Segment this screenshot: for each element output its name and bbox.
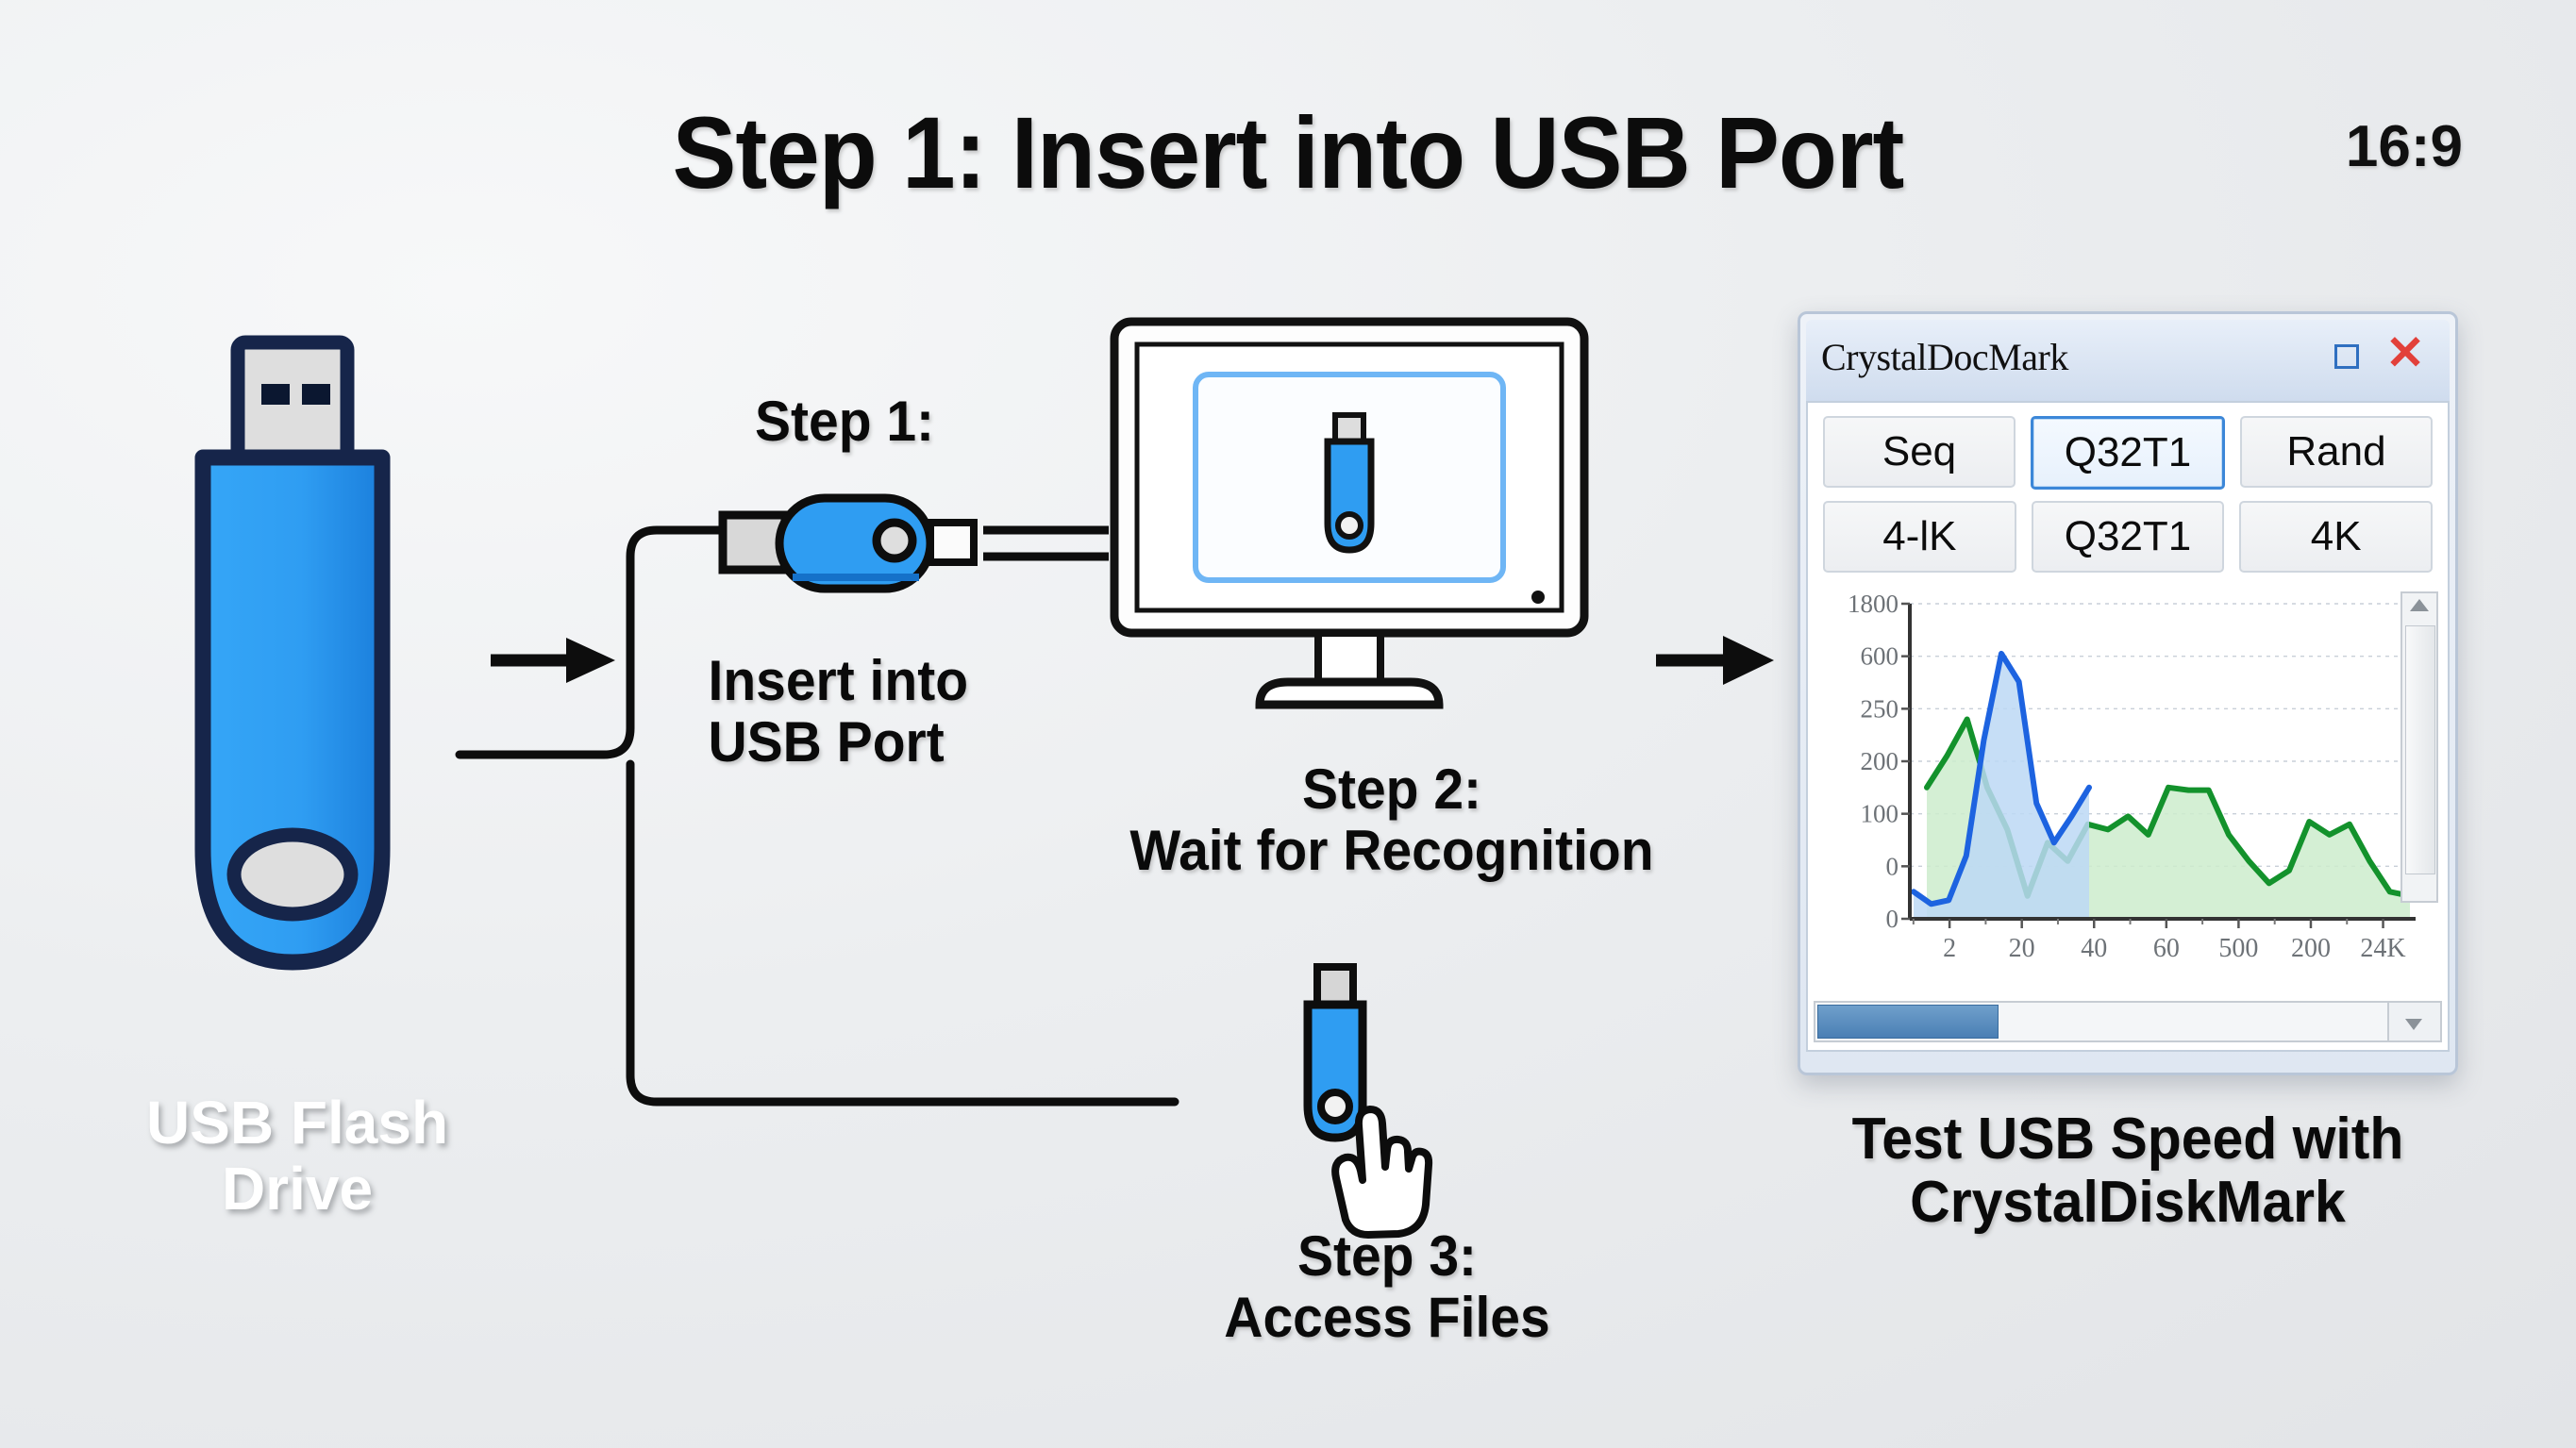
horizontal-scroll-thumb[interactable]: [1817, 1005, 1999, 1039]
poster-canvas: Step 1: Insert into USB Port 16:9: [0, 0, 2576, 1448]
window-content: Seq Q32T1 Rand 4-lK Q32T1 4K 18006002502…: [1806, 401, 2450, 1052]
svg-text:100: 100: [1861, 800, 1899, 828]
step-2-body: Wait for Recognition: [1043, 821, 1742, 882]
maximize-icon[interactable]: [2334, 344, 2359, 369]
svg-text:500: 500: [2218, 934, 2258, 963]
button-seq[interactable]: Seq: [1823, 416, 2016, 488]
chart-y-tick-labels: 180060025020010000: [1848, 590, 1910, 933]
arrow-right-icon-1: [491, 638, 615, 683]
window-title-bar[interactable]: CrystalDocMark ✕: [1806, 320, 2450, 401]
svg-text:24K: 24K: [2360, 934, 2405, 963]
scroll-up-arrow-icon[interactable]: [2410, 599, 2429, 611]
page-title: Step 1: Insert into USB Port: [77, 102, 2499, 204]
svg-text:0: 0: [1886, 905, 1899, 933]
svg-text:200: 200: [2291, 934, 2331, 963]
benchmark-caption-line-1: Test USB Speed with: [1810, 1108, 2447, 1172]
svg-text:600: 600: [1861, 642, 1899, 671]
button-q32t1-bottom[interactable]: Q32T1: [2032, 501, 2225, 573]
arrow-right-icon-2: [1656, 636, 1774, 685]
benchmark-caption: Test USB Speed with CrystalDiskMark: [1810, 1108, 2447, 1235]
close-icon[interactable]: ✕: [2385, 329, 2425, 376]
benchmark-caption-line-2: CrystalDiskMark: [1810, 1172, 2447, 1235]
svg-text:60: 60: [2153, 934, 2180, 963]
step-3-heading: Step 3:: [1110, 1226, 1665, 1288]
horizontal-scrollbar[interactable]: [1814, 1001, 2442, 1042]
button-4k[interactable]: 4K: [2239, 501, 2433, 573]
step-1-body: Insert into USB Port: [709, 651, 1085, 774]
svg-text:40: 40: [2081, 934, 2107, 963]
vertical-scrollbar[interactable]: [2400, 591, 2438, 903]
button-rand[interactable]: Rand: [2240, 416, 2433, 488]
usb-drive-horizontal-icon: [717, 491, 981, 594]
chart-series: [1914, 654, 2410, 919]
monitor-illustration: [1109, 316, 1590, 712]
button-4-1k[interactable]: 4-lK: [1823, 501, 2016, 573]
button-row-2: 4-lK Q32T1 4K: [1823, 501, 2433, 573]
step-1-body-line-2: USB Port: [709, 712, 1085, 774]
svg-text:0: 0: [1886, 852, 1899, 880]
step-3-body: Access Files: [1110, 1288, 1665, 1349]
hand-pointer-cursor-icon: [1321, 1099, 1434, 1240]
step-2-heading: Step 2:: [1043, 759, 1742, 821]
step-1-heading: Step 1:: [755, 391, 934, 453]
step-1-body-line-1: Insert into: [709, 651, 1085, 712]
aspect-ratio-badge: 16:9: [2346, 113, 2463, 180]
benchmark-chart: 180060025020010000 220406050020024K: [1823, 587, 2436, 992]
usb-flash-drive-illustration: [160, 335, 425, 995]
step-2-caption: Step 2: Wait for Recognition: [1043, 759, 1742, 882]
usb-caption-line-1: USB Flash: [75, 1090, 519, 1156]
scroll-down-arrow-icon[interactable]: [2405, 1019, 2422, 1030]
svg-text:20: 20: [2009, 934, 2035, 963]
svg-text:2: 2: [1943, 934, 1956, 963]
chart-x-tick-labels: 220406050020024K: [1914, 919, 2406, 963]
crystaldocmark-window[interactable]: CrystalDocMark ✕ Seq Q32T1 Rand 4-lK Q32…: [1798, 311, 2458, 1075]
button-q32t1-top[interactable]: Q32T1: [2031, 416, 2225, 490]
step-3-caption: Step 3: Access Files: [1110, 1226, 1665, 1349]
usb-caption-line-2: Drive: [75, 1156, 519, 1222]
svg-text:200: 200: [1861, 747, 1899, 775]
window-title: CrystalDocMark: [1821, 335, 2068, 379]
svg-text:250: 250: [1861, 694, 1899, 723]
vertical-scroll-thumb[interactable]: [2405, 625, 2435, 874]
svg-text:1800: 1800: [1848, 590, 1899, 618]
button-row-1: Seq Q32T1 Rand: [1823, 416, 2433, 490]
usb-flash-drive-caption: USB Flash Drive: [75, 1090, 519, 1223]
